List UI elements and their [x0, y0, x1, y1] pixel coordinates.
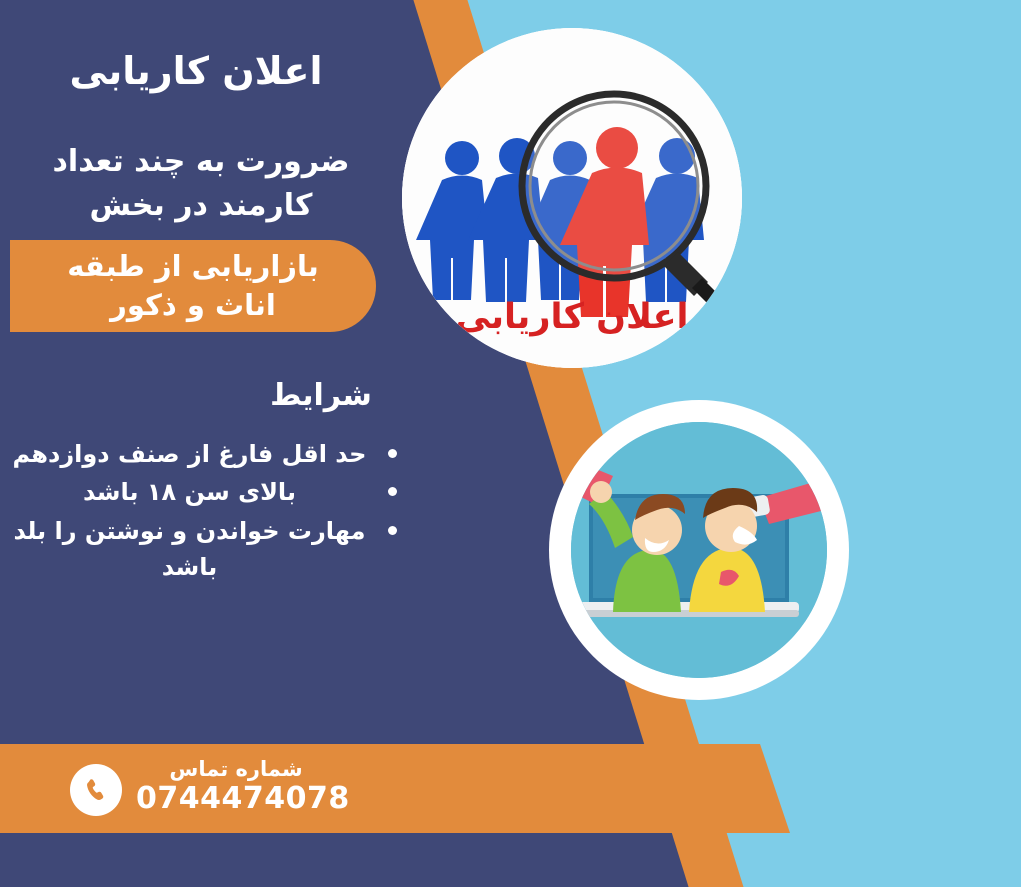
svg-text:اعلان کاریابی: اعلان کاریابی: [455, 297, 688, 337]
role-highlight-text: بازاریابی از طبقه اناث و ذکور: [53, 247, 333, 325]
role-highlight-line-2: اناث و ذکور: [67, 286, 319, 325]
page-title: اعلان کاریابی: [26, 48, 366, 96]
job-search-magnifier-illustration: اعلان کاریابی: [402, 28, 742, 368]
bottom-photo-circle: [549, 400, 849, 700]
phone-icon: [70, 764, 122, 816]
list-item: مهارت خواندن و نوشتن را بلد باشد: [6, 513, 401, 586]
list-item: حد اقل فارغ از صنف دوازدهم: [6, 436, 401, 472]
contact-phone-number[interactable]: 0744474078: [136, 782, 336, 817]
conditions-heading: شرایط: [246, 378, 396, 413]
megaphone-laptop-illustration: [571, 422, 827, 678]
top-photo-circle: اعلان کاریابی: [402, 28, 742, 368]
role-highlight-badge: بازاریابی از طبقه اناث و ذکور: [10, 240, 376, 332]
bullet-icon: [388, 526, 397, 535]
bullet-icon: [388, 449, 397, 458]
list-item-label: مهارت خواندن و نوشتن را بلد باشد: [13, 517, 365, 581]
subheading-line-1: ضرورت به چند تعداد: [16, 140, 386, 184]
subheading-line-2: کارمند در بخش: [16, 184, 386, 228]
contact-label: شماره تماس: [136, 756, 336, 782]
role-highlight-line-1: بازاریابی از طبقه: [67, 247, 319, 286]
subheading: ضرورت به چند تعداد کارمند در بخش: [16, 140, 386, 227]
list-item: بالای سن ۱۸ باشد: [6, 474, 401, 510]
list-item-label: حد اقل فارغ از صنف دوازدهم: [13, 440, 367, 468]
job-advertisement-poster: اعلان کاریابی: [0, 0, 1021, 887]
conditions-list: حد اقل فارغ از صنف دوازدهم بالای سن ۱۸ ب…: [6, 436, 401, 588]
contact-info: شماره تماس 0744474078: [136, 756, 336, 817]
bullet-icon: [388, 487, 397, 496]
list-item-label: بالای سن ۱۸ باشد: [83, 478, 296, 506]
